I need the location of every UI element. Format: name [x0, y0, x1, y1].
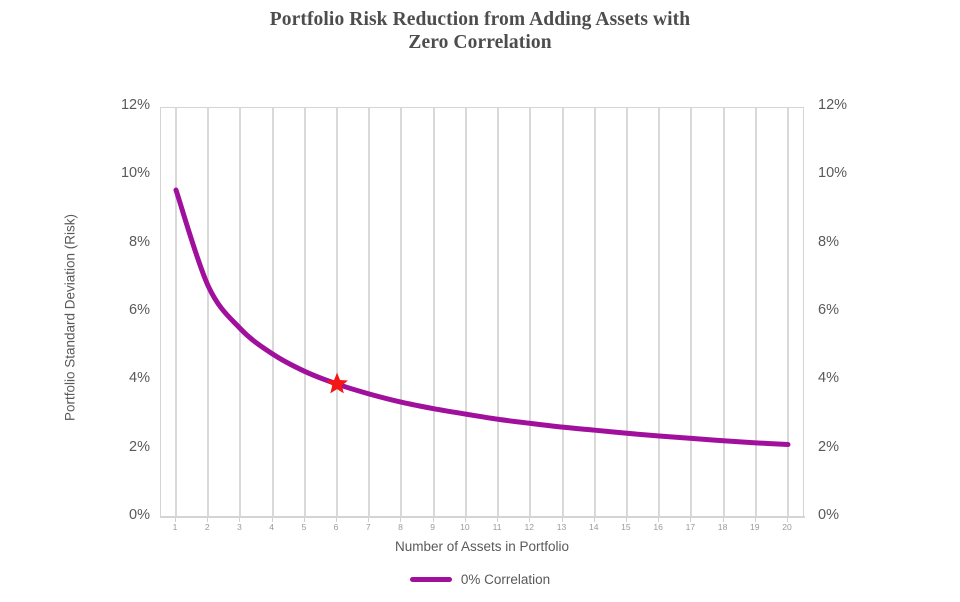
chart-legend: 0% Correlation: [0, 572, 960, 587]
y-tick-label-left-8%: 8%: [129, 234, 150, 250]
y-tick-label-right-6%: 6%: [818, 302, 839, 318]
y-tick-label-right-4%: 4%: [818, 370, 839, 386]
legend-swatch-0-correlation: [410, 577, 452, 582]
x-tick-mark-13: [562, 518, 563, 522]
y-tick-label-left-0%: 0%: [129, 507, 150, 523]
x-tick-mark-1: [175, 518, 176, 522]
x-tick-label-3: 3: [227, 522, 251, 532]
x-tick-label-14: 14: [582, 522, 606, 532]
y-tick-label-right-8%: 8%: [818, 234, 839, 250]
x-tick-mark-6: [336, 518, 337, 522]
x-tick-mark-11: [497, 518, 498, 522]
y-tick-label-right-2%: 2%: [818, 439, 839, 455]
x-tick-mark-14: [594, 518, 595, 522]
y-tick-label-left-4%: 4%: [129, 370, 150, 386]
x-axis-line: [160, 516, 805, 518]
x-tick-label-11: 11: [485, 522, 509, 532]
x-tick-mark-17: [690, 518, 691, 522]
legend-label-0-correlation: 0% Correlation: [461, 572, 550, 587]
x-tick-label-7: 7: [356, 522, 380, 532]
y-tick-label-right-0%: 0%: [818, 507, 839, 523]
x-tick-label-18: 18: [711, 522, 735, 532]
annotation-layer: [326, 373, 348, 394]
x-tick-label-2: 2: [195, 522, 219, 532]
x-tick-mark-9: [433, 518, 434, 522]
chart-title: Portfolio Risk Reduction from Adding Ass…: [0, 8, 960, 54]
y-tick-label-left-10%: 10%: [121, 165, 150, 181]
x-tick-label-19: 19: [743, 522, 767, 532]
chart-page: Portfolio Risk Reduction from Adding Ass…: [0, 0, 960, 602]
x-tick-mark-3: [239, 518, 240, 522]
x-tick-mark-2: [207, 518, 208, 522]
x-tick-label-12: 12: [517, 522, 541, 532]
x-tick-label-1: 1: [163, 522, 187, 532]
x-tick-label-10: 10: [453, 522, 477, 532]
y-axis-title: Portfolio Standard Deviation (Risk): [63, 193, 78, 443]
x-tick-label-6: 6: [324, 522, 348, 532]
x-tick-mark-5: [304, 518, 305, 522]
y-tick-label-left-6%: 6%: [129, 302, 150, 318]
x-tick-label-20: 20: [775, 522, 799, 532]
x-tick-label-9: 9: [421, 522, 445, 532]
series-layer: [161, 108, 805, 518]
highlight-star-icon: [326, 373, 348, 394]
x-tick-mark-7: [368, 518, 369, 522]
x-tick-mark-8: [400, 518, 401, 522]
x-tick-label-8: 8: [388, 522, 412, 532]
y-tick-label-left-12%: 12%: [121, 97, 150, 113]
x-tick-label-13: 13: [550, 522, 574, 532]
plot-area: [160, 107, 804, 517]
x-tick-label-15: 15: [614, 522, 638, 532]
x-tick-mark-4: [272, 518, 273, 522]
x-tick-mark-18: [723, 518, 724, 522]
x-tick-mark-10: [465, 518, 466, 522]
x-tick-label-4: 4: [260, 522, 284, 532]
x-tick-label-16: 16: [646, 522, 670, 532]
x-tick-mark-15: [626, 518, 627, 522]
x-tick-mark-19: [755, 518, 756, 522]
x-tick-mark-20: [787, 518, 788, 522]
y-tick-label-right-10%: 10%: [818, 165, 847, 181]
x-tick-label-17: 17: [678, 522, 702, 532]
series-line-0-correlation: [176, 190, 788, 445]
x-tick-mark-12: [529, 518, 530, 522]
y-tick-label-right-12%: 12%: [818, 97, 847, 113]
x-tick-mark-16: [658, 518, 659, 522]
y-tick-label-left-2%: 2%: [129, 439, 150, 455]
x-tick-label-5: 5: [292, 522, 316, 532]
x-axis-title: Number of Assets in Portfolio: [160, 539, 804, 554]
